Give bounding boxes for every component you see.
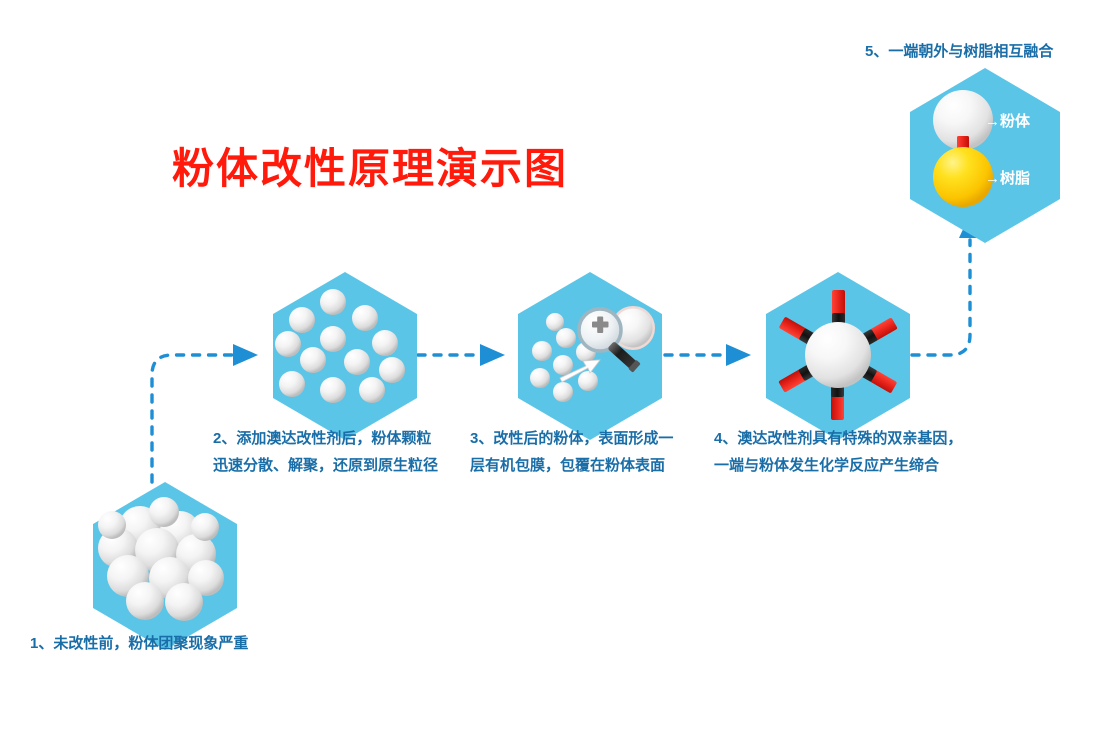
- caption-step-1: 1、未改性前，粉体团聚现象严重: [30, 630, 248, 657]
- connector-step4-to-step5: [912, 214, 981, 355]
- caption-step-5: 5、一端朝外与树脂相互融合: [865, 38, 1053, 65]
- diagram-canvas: 粉体改性原理演示图 1、未改性前，粉体团聚现象严重 2、添加澳达改性剂后，粉体颗…: [0, 0, 1100, 750]
- caption-step-3-line1: 3、改性后的粉体，表面形成一: [470, 430, 673, 447]
- page-title: 粉体改性原理演示图: [172, 135, 568, 196]
- caption-step-4: 4、澳达改性剂具有特殊的双亲基因， 一端与粉体发生化学反应产生缔合: [714, 425, 962, 479]
- caption-step-2-line1: 2、添加澳达改性剂后，粉体颗粒: [213, 430, 431, 447]
- hexagon-step-1: [93, 482, 237, 650]
- caption-step-5-line1: 5、一端朝外与树脂相互融合: [865, 43, 1053, 60]
- caption-step-4-line1: 4、澳达改性剂具有特殊的双亲基因，: [714, 430, 962, 447]
- label-resin: →树脂: [985, 167, 1030, 188]
- caption-step-4-line2: 一端与粉体发生化学反应产生缔合: [714, 452, 962, 479]
- caption-step-3-line2: 层有机包膜，包覆在粉体表面: [470, 452, 673, 479]
- connector-step3-to-step4: [665, 344, 751, 366]
- caption-step-1-line1: 1、未改性前，粉体团聚现象严重: [30, 635, 248, 652]
- hexagon-step-4: [766, 272, 910, 440]
- hexagon-step-5: [910, 68, 1060, 243]
- label-powder: →粉体: [985, 110, 1030, 131]
- hexagon-step-2: [273, 272, 417, 440]
- caption-step-2: 2、添加澳达改性剂后，粉体颗粒 迅速分散、解聚，还原到原生粒径: [213, 425, 438, 479]
- resin-sphere: [933, 147, 993, 207]
- connector-step2-to-step3: [418, 344, 505, 366]
- hexagon-step-3: [518, 272, 662, 440]
- caption-step-2-line2: 迅速分散、解聚，还原到原生粒径: [213, 452, 438, 479]
- caption-step-3: 3、改性后的粉体，表面形成一 层有机包膜，包覆在粉体表面: [470, 425, 673, 479]
